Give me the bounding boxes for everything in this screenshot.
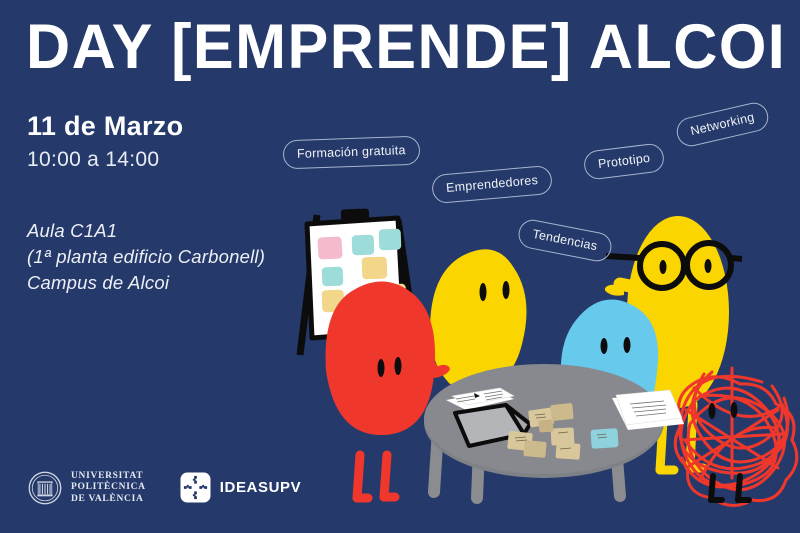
sticky-note: [322, 267, 344, 287]
event-poster: DAY [EMPRENDE] ALCOI 11 de Marzo 10:00 a…: [0, 0, 800, 533]
venue-building: (1ª planta edificio Carbonell): [27, 244, 265, 270]
sticky-note: [362, 257, 388, 280]
event-date: 11 de Marzo: [27, 110, 183, 143]
ideasupv-wordmark: IDEASUPV: [220, 479, 302, 496]
upv-line-1: UNIVERSITAT: [71, 471, 146, 483]
event-time: 10:00 a 14:00: [27, 145, 183, 175]
upv-wordmark: UNIVERSITAT POLITÈCNICA DE VALÈNCIA: [71, 471, 146, 506]
date-block: 11 de Marzo 10:00 a 14:00: [27, 110, 183, 175]
sticky-note: [379, 229, 402, 251]
sticky-note: [317, 236, 342, 259]
upv-line-2: POLITÈCNICA: [71, 482, 146, 494]
sticky-note: [352, 235, 375, 256]
poster-title: DAY [EMPRENDE] ALCOI: [26, 14, 763, 80]
upv-logo: UNIVERSITAT POLITÈCNICA DE VALÈNCIA: [28, 471, 146, 506]
venue-campus: Campus de Alcoi: [27, 270, 265, 296]
upv-line-3: DE VALÈNCIA: [71, 494, 146, 506]
footer-logos: UNIVERSITAT POLITÈCNICA DE VALÈNCIA IDEA…: [28, 471, 301, 506]
ideasupv-logo: IDEASUPV: [180, 472, 302, 503]
upv-seal-icon: [28, 471, 62, 505]
venue-block: Aula C1A1 (1ª planta edificio Carbonell)…: [27, 218, 265, 296]
puzzle-square-icon: [180, 472, 211, 503]
venue-room: Aula C1A1: [27, 218, 265, 244]
tag-formacion-gratuita: Formación gratuita: [283, 136, 421, 170]
